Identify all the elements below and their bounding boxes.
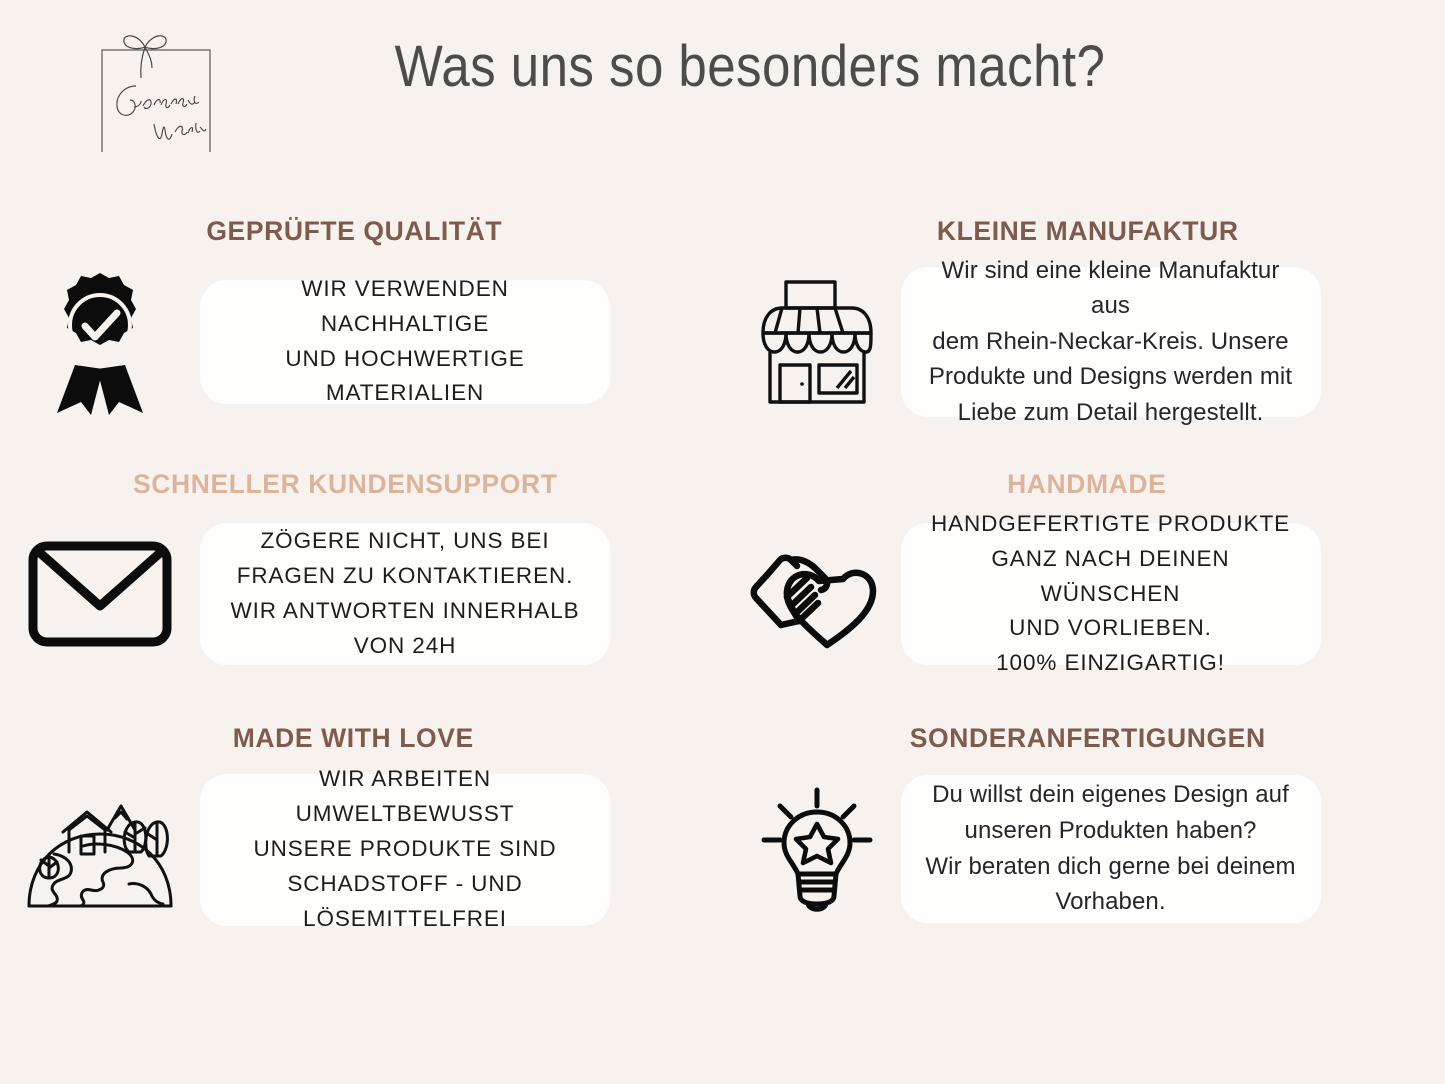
feature-card: Wir sind eine kleine Manufaktur aus dem … (901, 267, 1321, 417)
card-line: HANDGEFERTIGTE PRODUKTE (925, 507, 1297, 542)
feature-gepruefte-qualitaet: GEPRÜFTE QUALITÄT (0, 218, 723, 417)
feature-title: SCHNELLER KUNDENSUPPORT (0, 471, 723, 498)
card-line: unseren Produkten haben? (925, 813, 1295, 849)
feature-col-1: GEPRÜFTE QUALITÄT (0, 218, 723, 417)
brand-logo (100, 28, 224, 152)
envelope-icon (0, 519, 200, 669)
card-line: SCHADSTOFF - UND (224, 867, 586, 902)
card-line: GANZ NACH DEINEN WÜNSCHEN (925, 542, 1297, 612)
feature-card: HANDGEFERTIGTE PRODUKTE GANZ NACH DEINEN… (901, 523, 1321, 665)
card-line: Vorhaben. (925, 884, 1295, 920)
feature-made-with-love: MADE WITH LOVE (0, 725, 723, 926)
feature-card: WIR VERWENDEN NACHHALTIGE UND HOCHWERTIG… (200, 280, 610, 404)
feature-card-text: HANDGEFERTIGTE PRODUKTE GANZ NACH DEINEN… (925, 507, 1297, 681)
features-row-3: MADE WITH LOVE (0, 725, 1445, 926)
feature-sonderanfertigungen: SONDERANFERTIGUNGEN (723, 725, 1445, 924)
card-line: WIR VERWENDEN NACHHALTIGE (224, 272, 586, 342)
lightbulb-star-icon (733, 774, 901, 924)
feature-handmade: HANDMADE (723, 471, 1445, 670)
page-title: Was uns so besonders macht? (380, 33, 1119, 100)
card-line: ZÖGERE NICHT, UNS BEI (230, 524, 579, 559)
card-line: LÖSEMITTELFREI (224, 902, 586, 937)
feature-kleine-manufaktur: KLEINE MANUFAKTUR (723, 218, 1445, 417)
card-line: WIR ANTWORTEN INNERHALB (230, 594, 579, 629)
features-row-2: SCHNELLER KUNDENSUPPORT ZÖGERE NICHT, UN… (0, 471, 1445, 670)
feature-col-4: HANDMADE (723, 471, 1445, 670)
card-line: WIR ARBEITEN UMWELTBEWUSST (224, 762, 586, 832)
feature-col-3: SCHNELLER KUNDENSUPPORT ZÖGERE NICHT, UN… (0, 471, 723, 670)
feature-card: WIR ARBEITEN UMWELTBEWUSST UNSERE PRODUK… (200, 774, 610, 926)
card-line: UND HOCHWERTIGE MATERIALIEN (224, 342, 586, 412)
earth-nature-icon (0, 775, 200, 925)
card-line: Wir beraten dich gerne bei deinem (925, 849, 1295, 885)
card-line: Liebe zum Detail hergestellt. (925, 395, 1297, 431)
feature-title: HANDMADE (729, 471, 1445, 498)
storefront-icon (733, 267, 901, 417)
feature-card-text: WIR VERWENDEN NACHHALTIGE UND HOCHWERTIG… (224, 272, 586, 412)
feature-card-text: WIR ARBEITEN UMWELTBEWUSST UNSERE PRODUK… (224, 762, 586, 936)
card-line: UND VORLIEBEN. (925, 611, 1297, 646)
feature-card-text: Du willst dein eigenes Design auf unsere… (925, 777, 1295, 919)
features-grid: GEPRÜFTE QUALITÄT (0, 176, 1445, 926)
card-line: 100% EINZIGARTIG! (925, 646, 1297, 681)
card-line: dem Rhein-Neckar-Kreis. Unsere (925, 324, 1297, 360)
feature-card: Du willst dein eigenes Design auf unsere… (901, 775, 1321, 923)
card-line: UNSERE PRODUKTE SIND (224, 832, 586, 867)
card-line: VON 24H (230, 629, 579, 664)
card-line: FRAGEN ZU KONTAKTIEREN. (230, 559, 579, 594)
feature-title: KLEINE MANUFAKTUR (731, 218, 1445, 245)
feature-card-text: ZÖGERE NICHT, UNS BEI FRAGEN ZU KONTAKTI… (230, 524, 579, 664)
hand-holding-heart-icon (733, 519, 901, 669)
award-badge-icon (0, 267, 200, 417)
feature-card: ZÖGERE NICHT, UNS BEI FRAGEN ZU KONTAKTI… (200, 523, 610, 665)
card-line: Wir sind eine kleine Manufaktur aus (925, 253, 1297, 324)
feature-title: GEPRÜFTE QUALITÄT (0, 218, 723, 245)
feature-card-text: Wir sind eine kleine Manufaktur aus dem … (925, 253, 1297, 431)
features-row-1: GEPRÜFTE QUALITÄT (0, 218, 1445, 417)
feature-col-5: MADE WITH LOVE (0, 725, 723, 926)
feature-col-2: KLEINE MANUFAKTUR (723, 218, 1445, 417)
feature-schneller-kundensupport: SCHNELLER KUNDENSUPPORT ZÖGERE NICHT, UN… (0, 471, 723, 670)
feature-title: MADE WITH LOVE (0, 725, 723, 752)
feature-col-6: SONDERANFERTIGUNGEN (723, 725, 1445, 926)
feature-title: SONDERANFERTIGUNGEN (731, 725, 1445, 752)
card-line: Du willst dein eigenes Design auf (925, 777, 1295, 813)
page-header: Was uns so besonders macht? (0, 0, 1445, 175)
card-line: Produkte und Designs werden mit (925, 359, 1297, 395)
